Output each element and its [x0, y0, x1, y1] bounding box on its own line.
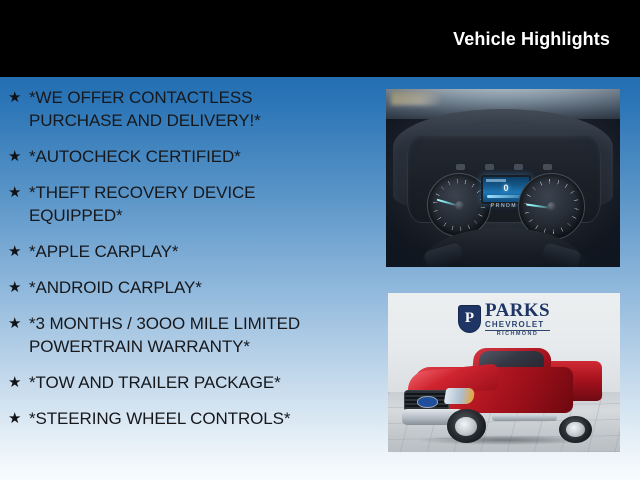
star-bullet-icon: ★ — [8, 371, 29, 394]
highlight-text: *3 MONTHS / 3OOO MILE LIMITED POWERTRAIN… — [29, 312, 360, 358]
gauge-cluster: 0 PRNDM — [407, 135, 601, 222]
highlight-text: *ANDROID CARPLAY* — [29, 276, 360, 299]
star-bullet-icon: ★ — [8, 86, 29, 109]
truck-scene: P PARKS CHEVROLET RICHMOND — [388, 293, 620, 452]
truck-front-wheel — [447, 409, 486, 443]
dashboard-scene: 0 PRNDM — [386, 89, 620, 267]
page-title: Vehicle Highlights — [453, 29, 610, 50]
star-bullet-icon: ★ — [8, 407, 29, 430]
list-item: ★ *ANDROID CARPLAY* — [8, 276, 360, 299]
pickup-truck-photo: P PARKS CHEVROLET RICHMOND — [388, 293, 620, 452]
truck-rear-wheel — [559, 416, 592, 443]
highlight-text: *APPLE CARPLAY* — [29, 240, 360, 263]
gear-selected: P — [491, 203, 496, 209]
highlight-text: *THEFT RECOVERY DEVICE EQUIPPED* — [29, 181, 360, 227]
shield-letter: P — [465, 311, 474, 326]
telltale-icon — [456, 164, 465, 170]
gauge-hub — [547, 202, 556, 211]
list-item: ★ *THEFT RECOVERY DEVICE EQUIPPED* — [8, 181, 360, 227]
pickup-truck-illustration — [402, 342, 606, 444]
list-item: ★ *TOW AND TRAILER PACKAGE* — [8, 371, 360, 394]
display-header-bar — [486, 179, 507, 182]
instrument-cluster-photo: 0 PRNDM — [386, 89, 620, 267]
star-bullet-icon: ★ — [8, 312, 29, 335]
list-item: ★ *3 MONTHS / 3OOO MILE LIMITED POWERTRA… — [8, 312, 360, 358]
telltale-icon — [485, 164, 494, 170]
highlights-list: ★ *WE OFFER CONTACTLESS PURCHASE AND DEL… — [8, 86, 360, 443]
dealer-logo: P PARKS CHEVROLET RICHMOND — [458, 301, 550, 338]
star-bullet-icon: ★ — [8, 181, 29, 204]
header-bar: Vehicle Highlights — [0, 0, 640, 77]
dealer-logo-wordmark: PARKS CHEVROLET RICHMOND — [485, 301, 550, 338]
list-item: ★ *WE OFFER CONTACTLESS PURCHASE AND DEL… — [8, 86, 360, 132]
highlight-text: *TOW AND TRAILER PACKAGE* — [29, 371, 360, 394]
star-bullet-icon: ★ — [8, 145, 29, 168]
highlight-text: *WE OFFER CONTACTLESS PURCHASE AND DELIV… — [29, 86, 360, 132]
list-item: ★ *APPLE CARPLAY* — [8, 240, 360, 263]
dealer-brand: PARKS — [485, 301, 550, 320]
telltale-lamps — [446, 163, 561, 171]
highlight-text: *AUTOCHECK CERTIFIED* — [29, 145, 360, 168]
dealer-sub-brand: CHEVROLET — [485, 321, 550, 331]
highlight-text: *STEERING WHEEL CONTROLS* — [29, 407, 360, 430]
telltale-icon — [514, 164, 523, 170]
star-bullet-icon: ★ — [8, 240, 29, 263]
list-item: ★ *AUTOCHECK CERTIFIED* — [8, 145, 360, 168]
shield-icon: P — [458, 305, 481, 333]
vehicle-highlights-slide: Vehicle Highlights ★ *WE OFFER CONTACTLE… — [0, 0, 640, 480]
truck-headlight — [443, 388, 474, 404]
star-bullet-icon: ★ — [8, 276, 29, 299]
list-item: ★ *STEERING WHEEL CONTROLS* — [8, 407, 360, 430]
gauge-hub — [455, 201, 464, 210]
telltale-icon — [543, 164, 552, 170]
truck-running-board — [492, 415, 557, 421]
dealer-city: RICHMOND — [485, 332, 550, 338]
